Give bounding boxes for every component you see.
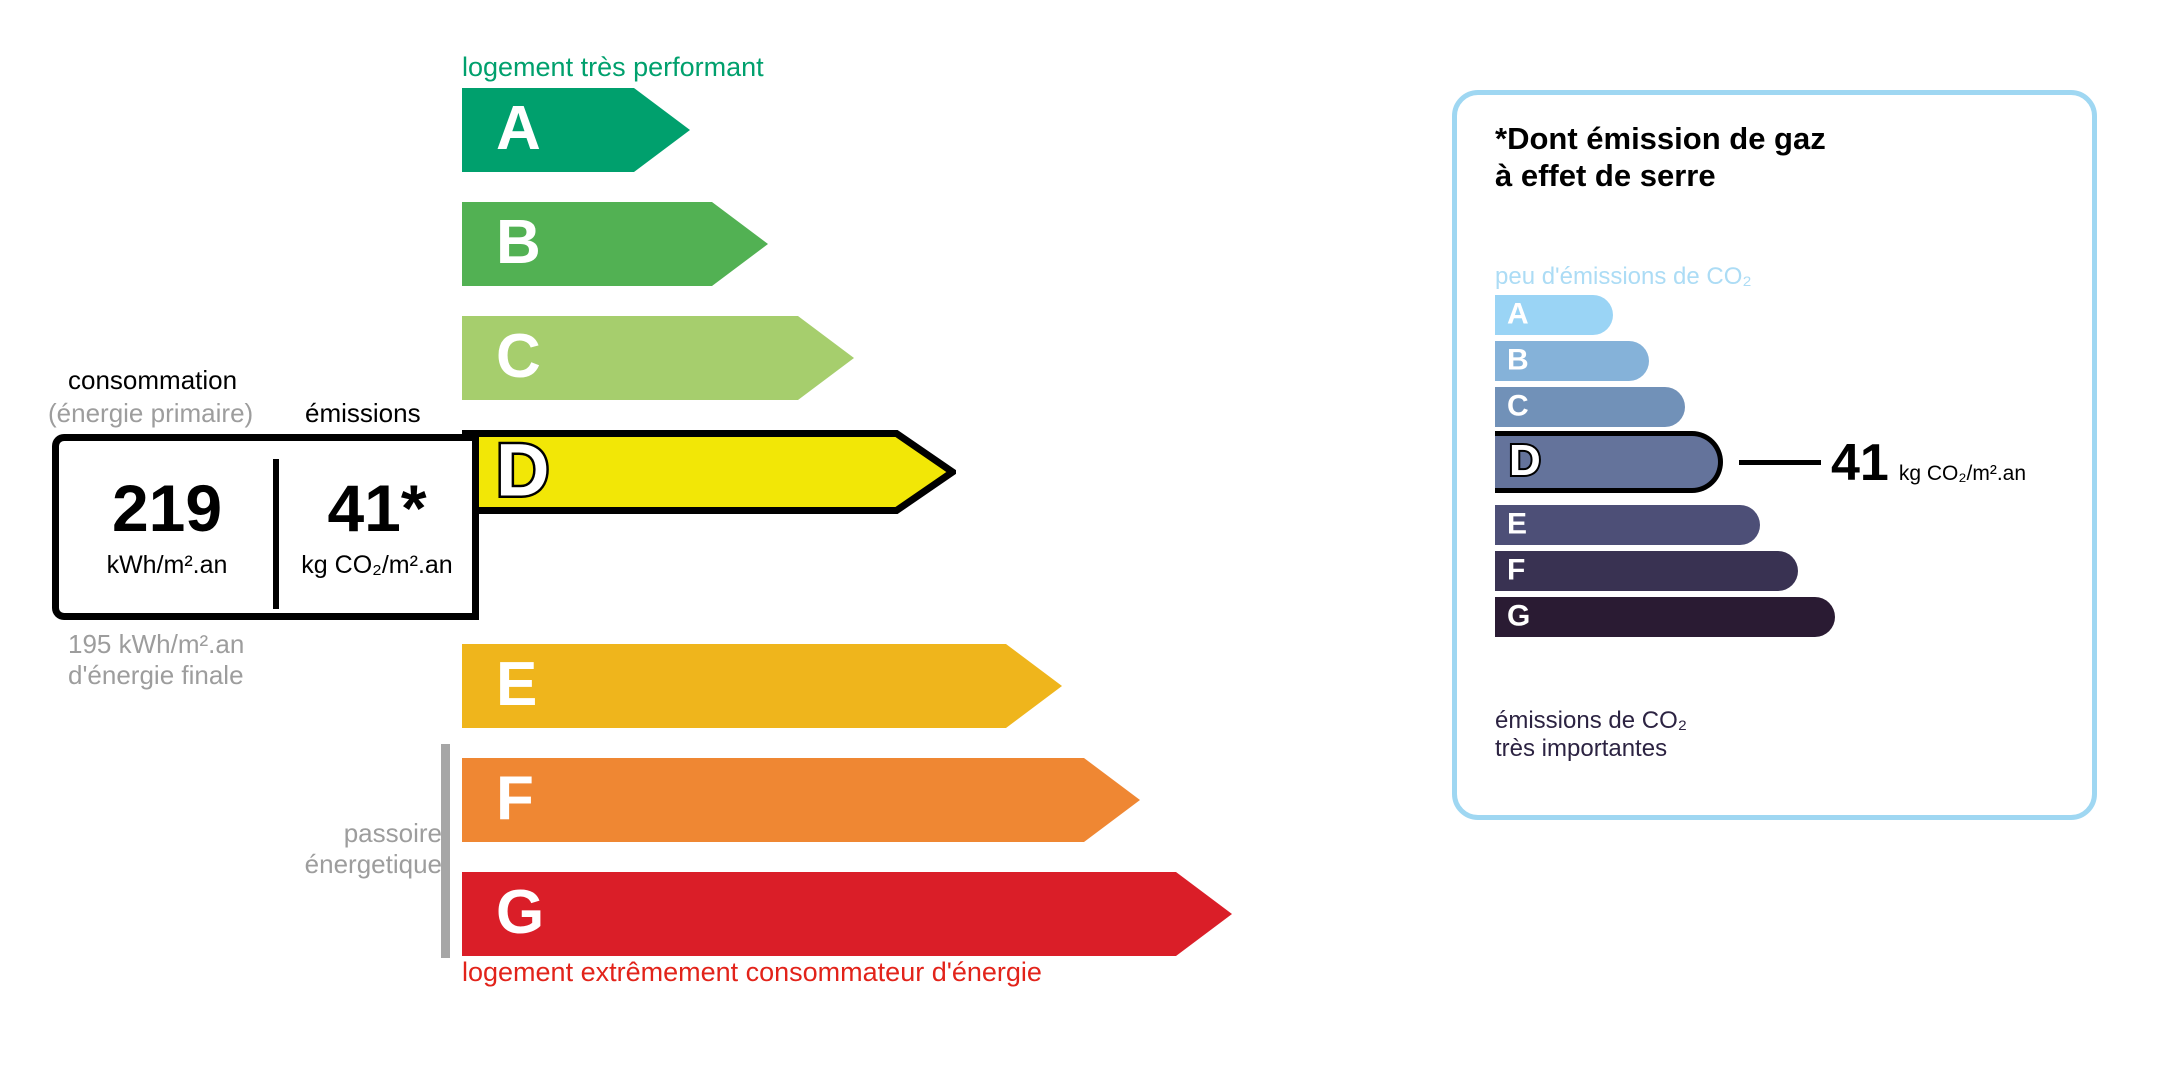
co2-bar-shape	[1495, 551, 1798, 591]
co2-class-bar-f: F	[1495, 551, 1798, 591]
consumption-value-box: 219 kWh/m².an 41* kg CO₂/m².an	[52, 434, 472, 620]
scale-top-caption: logement très performant	[462, 52, 764, 83]
energy-class-letter-d: D	[496, 434, 549, 508]
co2-class-bar-b: B	[1495, 341, 1649, 381]
consumption-header-label: consommation	[68, 365, 237, 396]
consumption-cell: 219 kWh/m².an	[59, 441, 275, 613]
co2-callout-value: 41	[1831, 437, 1889, 489]
energy-class-letter-a: A	[496, 98, 541, 160]
co2-class-letter-d: D	[1509, 439, 1541, 483]
energy-class-letter-e: E	[496, 654, 537, 716]
energy-class-arrow-g: G	[462, 872, 1232, 956]
energy-class-arrow-d: D	[462, 430, 956, 514]
energy-class-arrow-c: C	[462, 316, 854, 400]
co2-class-letter-b: B	[1507, 345, 1529, 375]
co2-class-bar-d: D	[1495, 431, 1723, 493]
final-energy-note: 195 kWh/m².and'énergie finale	[68, 629, 244, 690]
co2-callout-unit: kg CO₂/m².an	[1899, 462, 2026, 486]
co2-bottom-caption: émissions de CO₂très importantes	[1495, 707, 1687, 764]
co2-bar-shape	[1495, 597, 1835, 637]
energy-class-letter-f: F	[496, 768, 534, 830]
co2-callout: 41 kg CO₂/m².an	[1831, 437, 2026, 489]
energy-class-letter-g: G	[496, 882, 544, 944]
emission-cell: 41* kg CO₂/m².an	[275, 441, 479, 613]
co2-class-letter-e: E	[1507, 509, 1527, 539]
co2-class-letter-g: G	[1507, 601, 1530, 631]
energy-performance-scale: logement très performant ABCDEFG logemen…	[0, 0, 1400, 1079]
co2-class-bar-g: G	[1495, 597, 1835, 637]
co2-top-caption: peu d'émissions de CO₂	[1495, 263, 1752, 291]
energy-class-arrow-f: F	[462, 758, 1140, 842]
emission-value: 41*	[327, 475, 426, 541]
arrow-shape	[462, 758, 1140, 842]
energy-class-letter-b: B	[496, 212, 541, 274]
scale-bottom-caption: logement extrêmement consommateur d'éner…	[462, 957, 1042, 988]
primary-energy-sublabel: (énergie primaire)	[48, 398, 253, 429]
co2-class-bar-a: A	[1495, 295, 1613, 335]
energy-class-arrow-a: A	[462, 88, 690, 172]
emission-unit: kg CO₂/m².an	[301, 551, 452, 580]
consumption-value: 219	[112, 475, 222, 541]
co2-class-letter-f: F	[1507, 555, 1525, 585]
co2-panel-title: *Dont émission de gazà effet de serre	[1495, 121, 1826, 194]
energy-class-arrow-e: E	[462, 644, 1062, 728]
co2-class-bar-e: E	[1495, 505, 1760, 545]
co2-emissions-panel: *Dont émission de gazà effet de serre pe…	[1452, 90, 2097, 820]
arrow-shape	[462, 872, 1232, 956]
energy-class-arrow-b: B	[462, 202, 768, 286]
passoire-energetique-label: passoireénergetique	[272, 818, 442, 879]
emissions-header-label: émissions	[305, 398, 421, 429]
co2-class-letter-a: A	[1507, 299, 1529, 329]
co2-bar-shape	[1495, 505, 1760, 545]
arrow-shape	[462, 644, 1062, 728]
co2-class-letter-c: C	[1507, 391, 1529, 421]
co2-class-bar-c: C	[1495, 387, 1685, 427]
energy-class-letter-c: C	[496, 326, 541, 388]
consumption-unit: kWh/m².an	[107, 551, 228, 580]
dpe-diagram: logement très performant ABCDEFG logemen…	[0, 0, 2169, 1079]
passoire-indicator-bar	[441, 744, 450, 958]
co2-callout-leader-line	[1739, 460, 1821, 465]
